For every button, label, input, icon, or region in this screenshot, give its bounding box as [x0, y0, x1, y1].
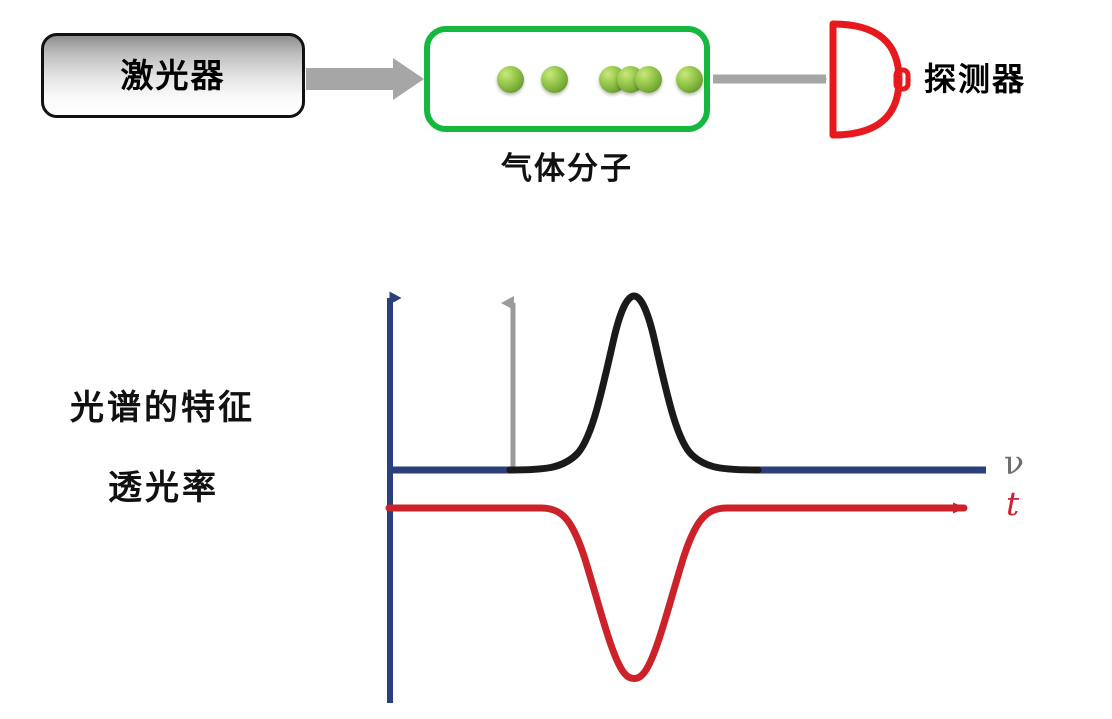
- laser-source-label: 激光器: [121, 59, 226, 92]
- molecule-sphere: [676, 66, 703, 93]
- gas-molecule-group: [424, 26, 710, 132]
- arrow-laser-to-cell-icon: [306, 58, 424, 100]
- diagram-canvas: 激光器 气体分子 探测器 光谱的特征 透光率 ν t: [0, 0, 1112, 719]
- gas-cell-caption: 气体分子: [424, 143, 710, 188]
- molecule-sphere: [497, 66, 524, 93]
- plot-label-spectral-feature: 光谱的特征: [70, 380, 255, 429]
- molecule-sphere: [635, 66, 662, 93]
- transmittance-dip-curve: [389, 508, 964, 679]
- laser-source-box: 激光器: [41, 33, 305, 118]
- axis-label-t: t: [1006, 487, 1019, 520]
- molecule-sphere: [541, 66, 568, 93]
- detector-icon: [833, 24, 908, 135]
- plot-label-transmittance: 透光率: [108, 460, 219, 509]
- axis-label-nu: ν: [1004, 446, 1024, 479]
- absorption-peak-curve: [510, 296, 758, 470]
- detector-label: 探测器: [924, 54, 1026, 100]
